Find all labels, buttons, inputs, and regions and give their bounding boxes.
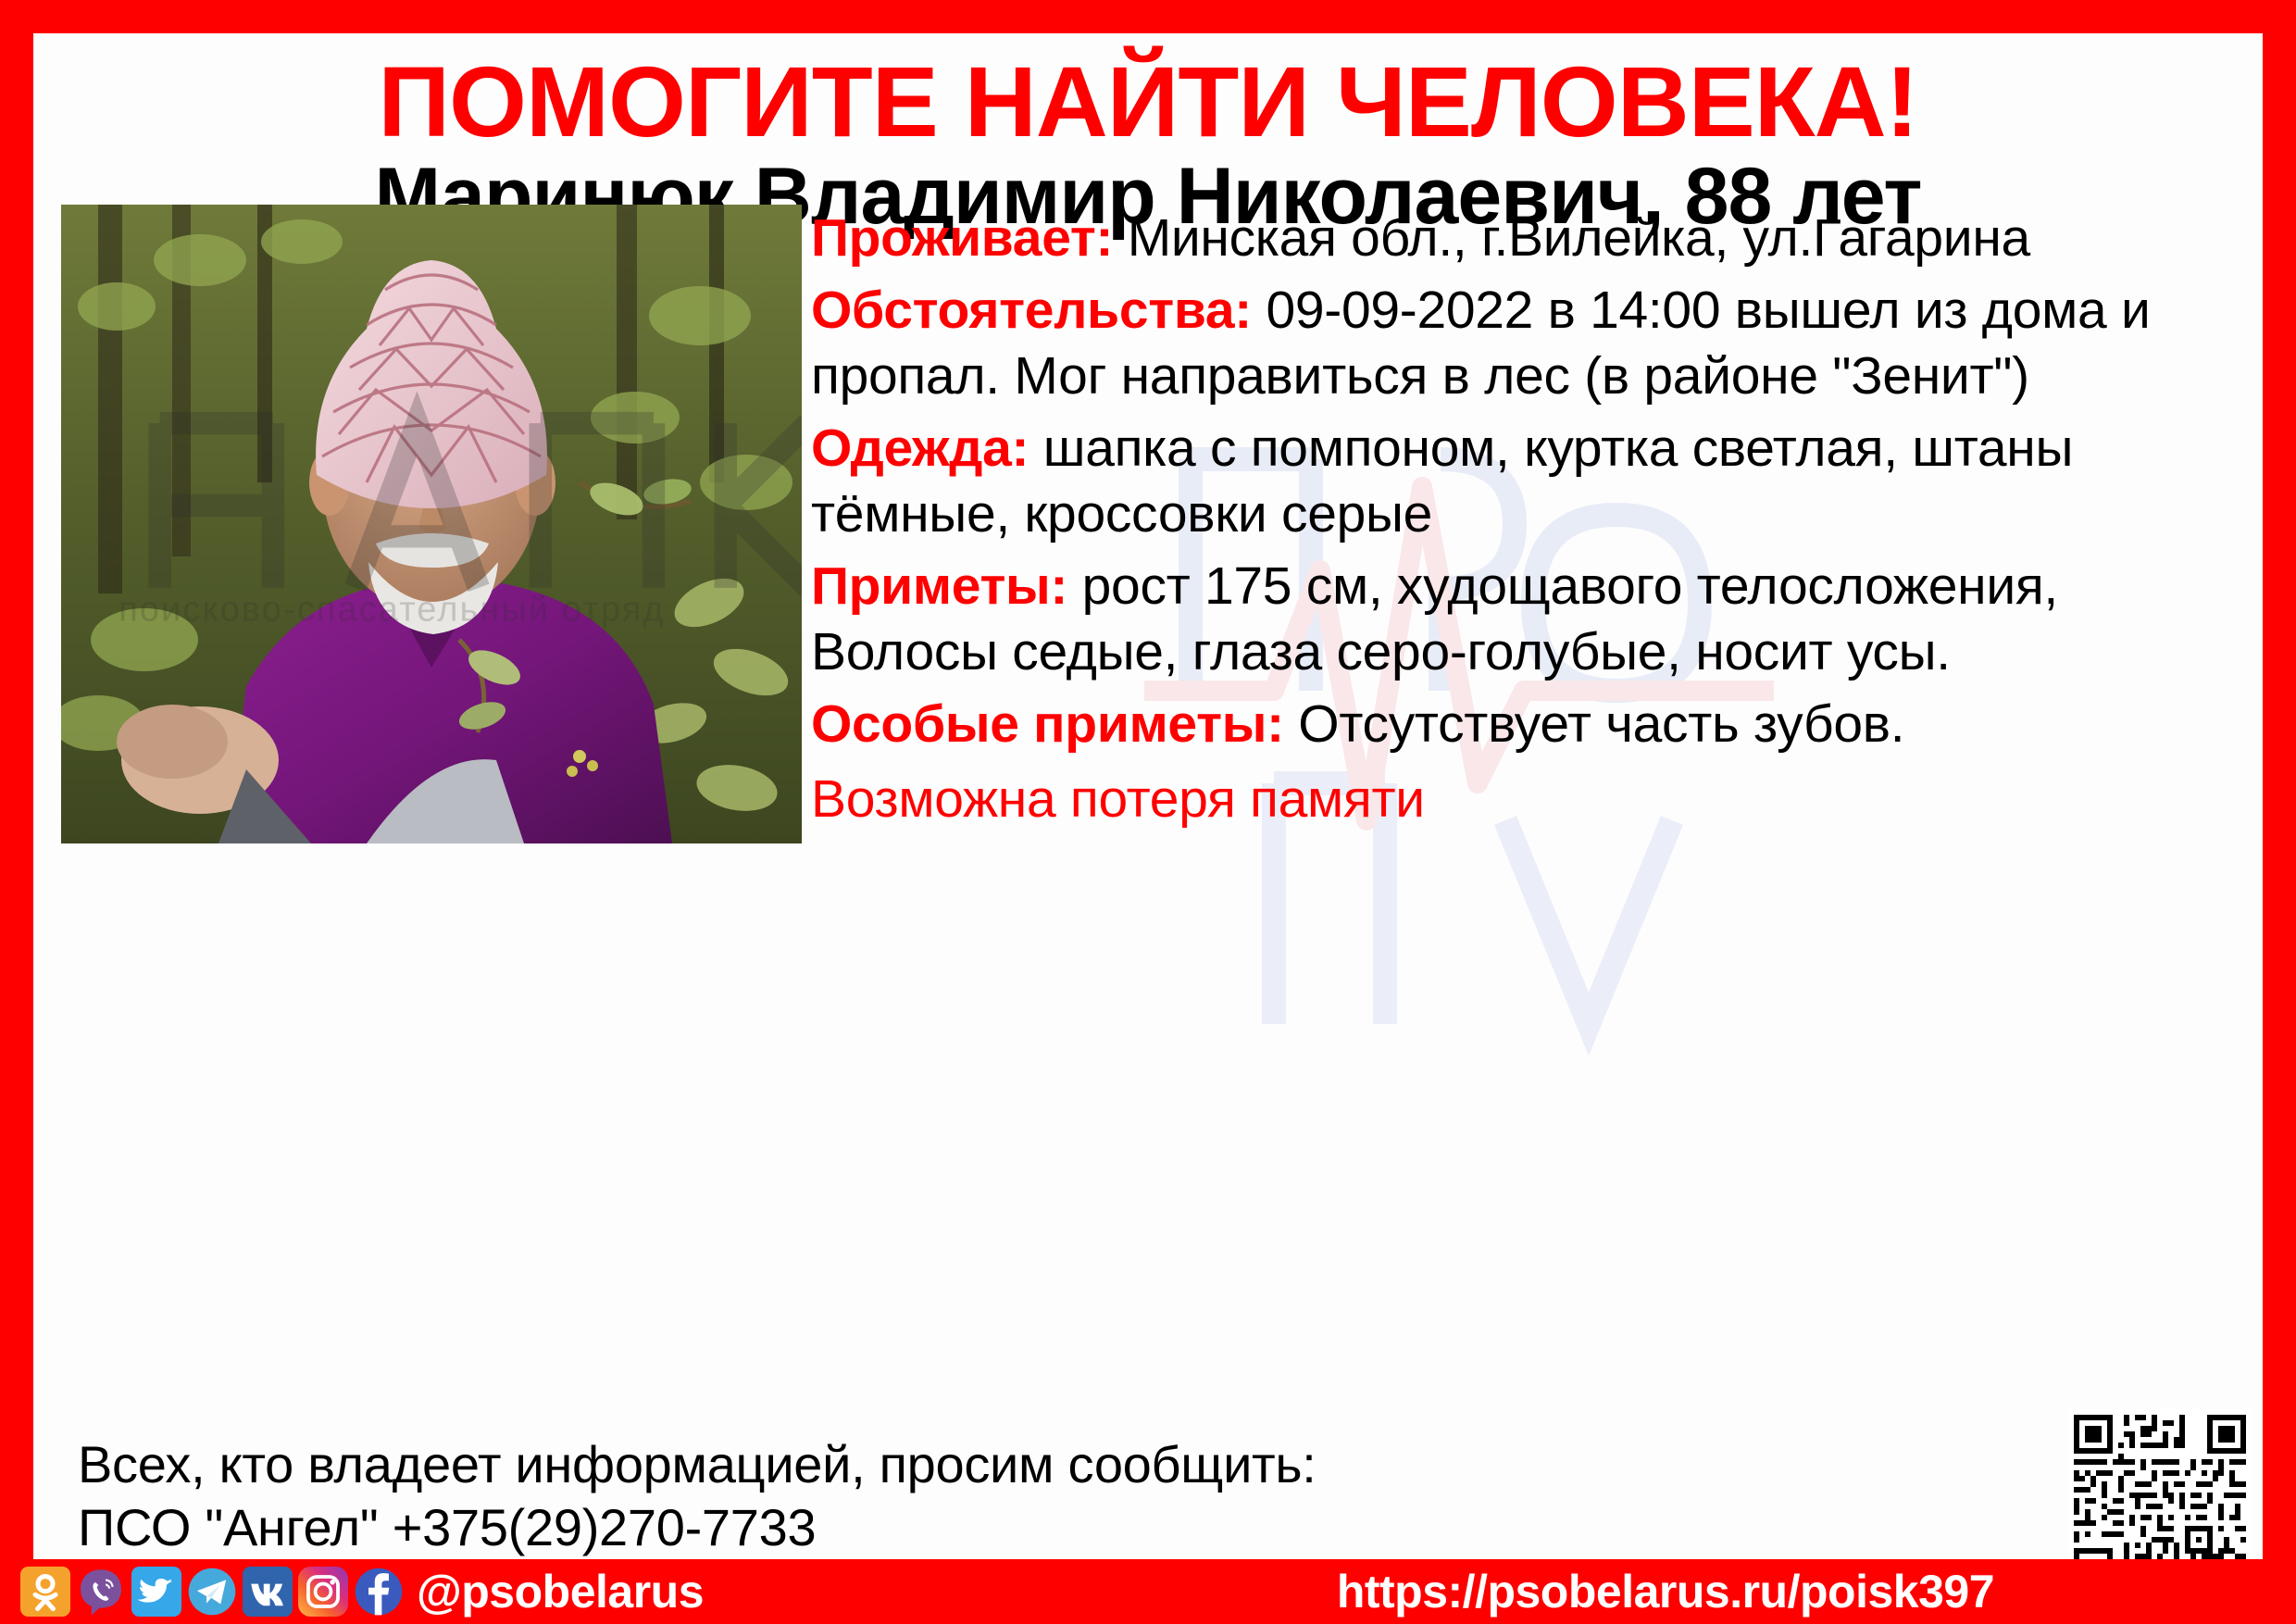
social-handle[interactable]: @psobelarus — [417, 1568, 704, 1615]
twitter-icon[interactable] — [131, 1567, 181, 1617]
contact-block: Всех, кто владеет информацией, просим со… — [78, 1433, 1316, 1559]
poster-url[interactable]: https://psobelarus.ru/poisk397 — [1337, 1566, 1994, 1618]
detail-value-residence: Минская обл., г.Вилейка, ул.Гагарина — [1113, 208, 2030, 268]
missing-person-poster: ПОМОГИТЕ НАЙТИ ЧЕЛОВЕКА! Маринюк Владими… — [0, 0, 2296, 1624]
detail-residence: Проживает: Минская обл., г.Вилейка, ул.Г… — [811, 206, 2244, 271]
instagram-icon[interactable] — [298, 1567, 348, 1617]
detail-value-special-features: Отсутствует часть зубов. — [1284, 694, 1905, 754]
qr-code[interactable] — [2068, 1409, 2252, 1559]
social-icons-group — [20, 1567, 404, 1617]
odnoklassniki-icon[interactable] — [20, 1567, 70, 1617]
contact-line-1: Всех, кто владеет информацией, просим со… — [78, 1433, 1316, 1496]
vk-icon[interactable] — [243, 1567, 293, 1617]
memory-loss-note: Возможна потеря памяти — [811, 767, 2244, 832]
detail-features: Приметы: рост 175 см, худощавого телосло… — [811, 554, 2244, 685]
detail-label-special-features: Особые приметы: — [811, 694, 1284, 754]
detail-label-features: Приметы: — [811, 556, 1067, 616]
detail-label-circumstances: Обстоятельства: — [811, 281, 1252, 340]
telegram-icon[interactable] — [187, 1567, 237, 1617]
poster-sheet: ПОМОГИТЕ НАЙТИ ЧЕЛОВЕКА! Маринюк Владими… — [33, 33, 2263, 1559]
bottom-bar: @psobelarus https://psobelarus.ru/poisk3… — [0, 1559, 2296, 1624]
detail-clothing: Одежда: шапка с помпоном, куртка светлая… — [811, 416, 2244, 547]
page-title: ПОМОГИТЕ НАЙТИ ЧЕЛОВЕКА! — [33, 33, 2263, 154]
detail-circumstances: Обстоятельства: 09-09-2022 в 14:00 вышел… — [811, 278, 2244, 409]
viber-icon[interactable] — [76, 1567, 126, 1617]
detail-special-features: Особые приметы: Отсутствует часть зубов. — [811, 692, 2244, 757]
contact-line-2: ПСО "Ангел" +375(29)270-7733 — [78, 1496, 1316, 1559]
facebook-icon[interactable] — [354, 1567, 404, 1617]
detail-label-residence: Проживает: — [811, 208, 1113, 268]
detail-label-clothing: Одежда: — [811, 418, 1029, 478]
details-block: Проживает: Минская обл., г.Вилейка, ул.Г… — [811, 206, 2244, 885]
missing-person-photo: поисково-спасательный отряд — [61, 205, 802, 843]
